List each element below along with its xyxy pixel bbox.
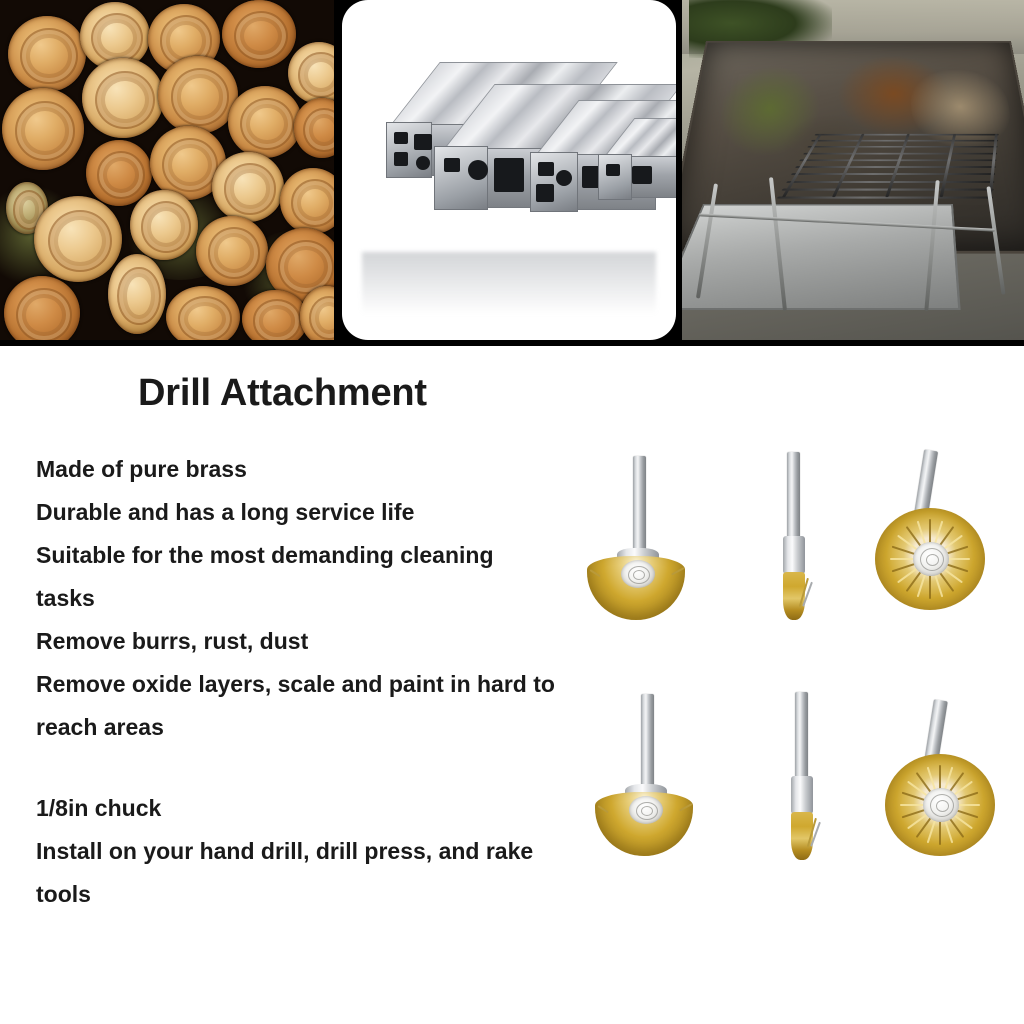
feature-bullet-list: Made of pure brass Durable and has a lon… <box>36 448 606 916</box>
log-end <box>212 152 284 222</box>
brush-shank <box>641 694 654 788</box>
product-listing-page: Drill Attachment Made of pure brass Dura… <box>0 0 1024 1024</box>
log-end <box>242 290 308 340</box>
wheel-brush-top-right <box>863 446 1003 646</box>
log-end <box>222 0 296 68</box>
brush-hub-ring <box>641 806 653 816</box>
extrusion-stage <box>342 0 676 340</box>
log-end <box>82 58 164 138</box>
brush-hub-ring <box>926 554 939 566</box>
log-end <box>166 286 240 340</box>
wheel-brush-bottom-right <box>873 698 1013 898</box>
feature-bullet: 1/8in chuck <box>36 787 606 830</box>
log-end <box>158 56 238 134</box>
brush-shank <box>787 452 800 540</box>
feature-bullet: Install on your hand drill, drill press,… <box>36 830 606 873</box>
brush-hub-ring <box>633 570 645 580</box>
brush-shank <box>633 456 646 552</box>
stacked-logs-photo <box>0 0 334 340</box>
feature-bullet: reach areas <box>36 706 606 749</box>
dirty-bbq-grill-photo <box>682 0 1024 340</box>
feature-bullet: Durable and has a long service life <box>36 491 606 534</box>
feature-bullet: tasks <box>36 577 606 620</box>
brush-hub-ring <box>936 800 949 812</box>
log-end <box>2 88 84 170</box>
log-end <box>228 86 302 158</box>
end-brush-top-center <box>735 450 875 650</box>
feature-bullet: Suitable for the most demanding cleaning <box>36 534 606 577</box>
product-brush-gallery <box>575 440 1024 910</box>
feature-bullet: Made of pure brass <box>36 448 606 491</box>
bullet-group-spacer <box>36 749 606 787</box>
extrusion-reflection <box>362 252 656 327</box>
log-end <box>196 216 268 286</box>
photo-strip-divider <box>334 0 342 340</box>
log-end <box>86 140 152 206</box>
aluminium-extrusion-photo <box>342 0 676 340</box>
log-end <box>34 196 122 282</box>
strip-underline <box>0 340 1024 346</box>
brush-shank <box>914 449 938 516</box>
log-end <box>4 276 80 340</box>
feature-bullet: Remove burrs, rust, dust <box>36 620 606 663</box>
brush-shank <box>795 692 808 780</box>
log-end <box>130 190 198 260</box>
grill-legs <box>692 177 1013 333</box>
end-brush-bottom-center <box>743 690 883 890</box>
feature-bullet: tools <box>36 873 606 916</box>
photo-strip <box>0 0 1024 340</box>
feature-bullet: Remove oxide layers, scale and paint in … <box>36 663 606 706</box>
cup-brush-bottom-left <box>593 690 733 890</box>
page-title: Drill Attachment <box>138 372 427 415</box>
log-end <box>8 16 86 92</box>
log-end <box>108 254 166 334</box>
brush-ferrule <box>783 536 805 574</box>
brush-ferrule <box>791 776 813 814</box>
cup-brush-top-left <box>585 450 725 650</box>
